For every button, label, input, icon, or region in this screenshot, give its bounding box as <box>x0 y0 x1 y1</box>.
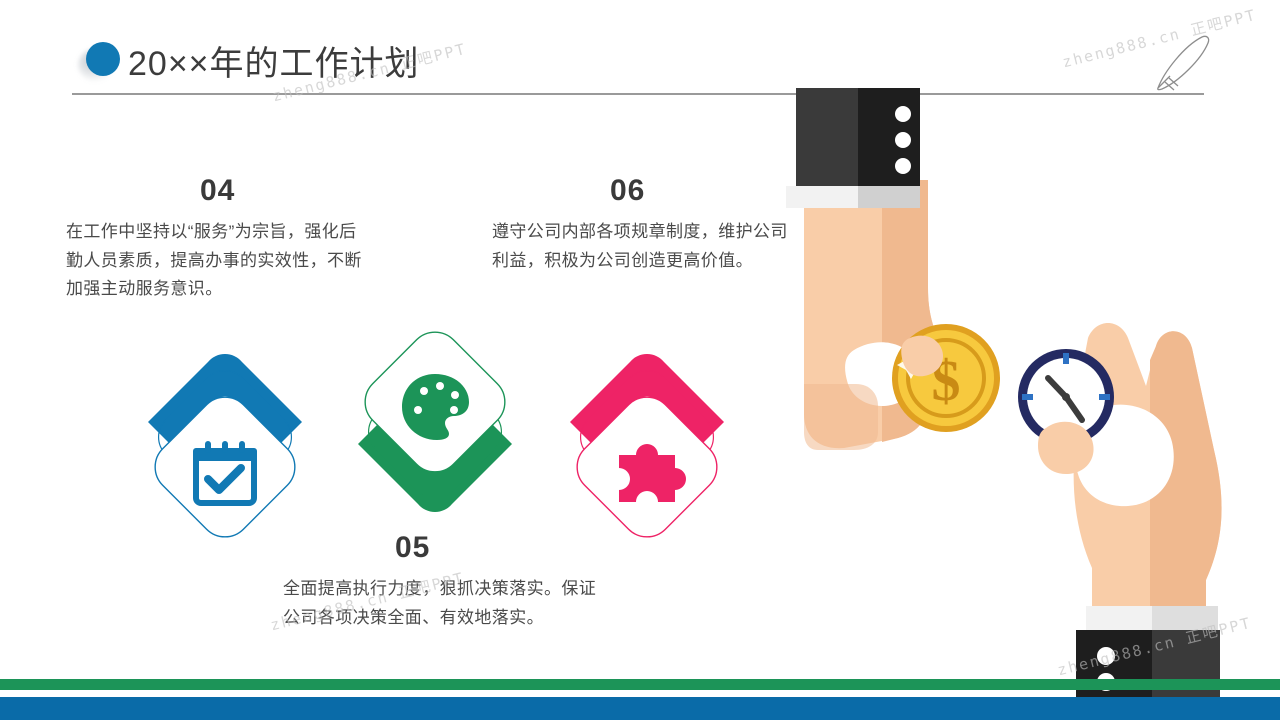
block-text-04: 在工作中坚持以“服务”为宗旨，强化后勤人员素质，提高办事的实效性，不断加强主动服… <box>66 218 366 304</box>
block-number-06: 06 <box>610 176 792 206</box>
header-divider <box>72 93 1204 95</box>
info-block-04: 04 在工作中坚持以“服务”为宗旨，强化后勤人员素质，提高办事的实效性，不断加强… <box>66 176 366 304</box>
block-text-06: 遵守公司内部各项规章制度，维护公司利益，积极为公司创造更高价值。 <box>492 218 792 275</box>
suit-sleeve <box>786 88 920 208</box>
info-block-05: 05 全面提高执行力度，狠抓决策落实。保证公司各项决策全面、有效地落实。 <box>283 533 603 632</box>
info-block-06: 06 遵守公司内部各项规章制度，维护公司利益，积极为公司创造更高价值。 <box>492 176 792 275</box>
hand-holding-clock-illustration <box>1000 300 1262 720</box>
slide-header: 20××年的工作计划 <box>0 0 1280 100</box>
icon-group-calendar <box>140 342 310 557</box>
icon-group-puzzle <box>562 342 732 557</box>
icon-group-palette <box>350 312 520 527</box>
footer-green-bar <box>0 679 1280 690</box>
slide-root: 20××年的工作计划 04 在工作中坚持以“服务”为宗旨，强化后勤人员素质，提高… <box>0 0 1280 720</box>
thumb-shape <box>1038 422 1094 474</box>
block-text-05: 全面提高执行力度，狠抓决策落实。保证公司各项决策全面、有效地落实。 <box>283 575 603 632</box>
page-title: 20××年的工作计划 <box>128 36 420 85</box>
pen-icon <box>1150 32 1216 94</box>
block-number-04: 04 <box>200 176 366 206</box>
hand-holding-coin-illustration: $ <box>778 88 1024 468</box>
footer-blue-bar <box>0 697 1280 720</box>
title-bullet-icon <box>86 42 120 76</box>
